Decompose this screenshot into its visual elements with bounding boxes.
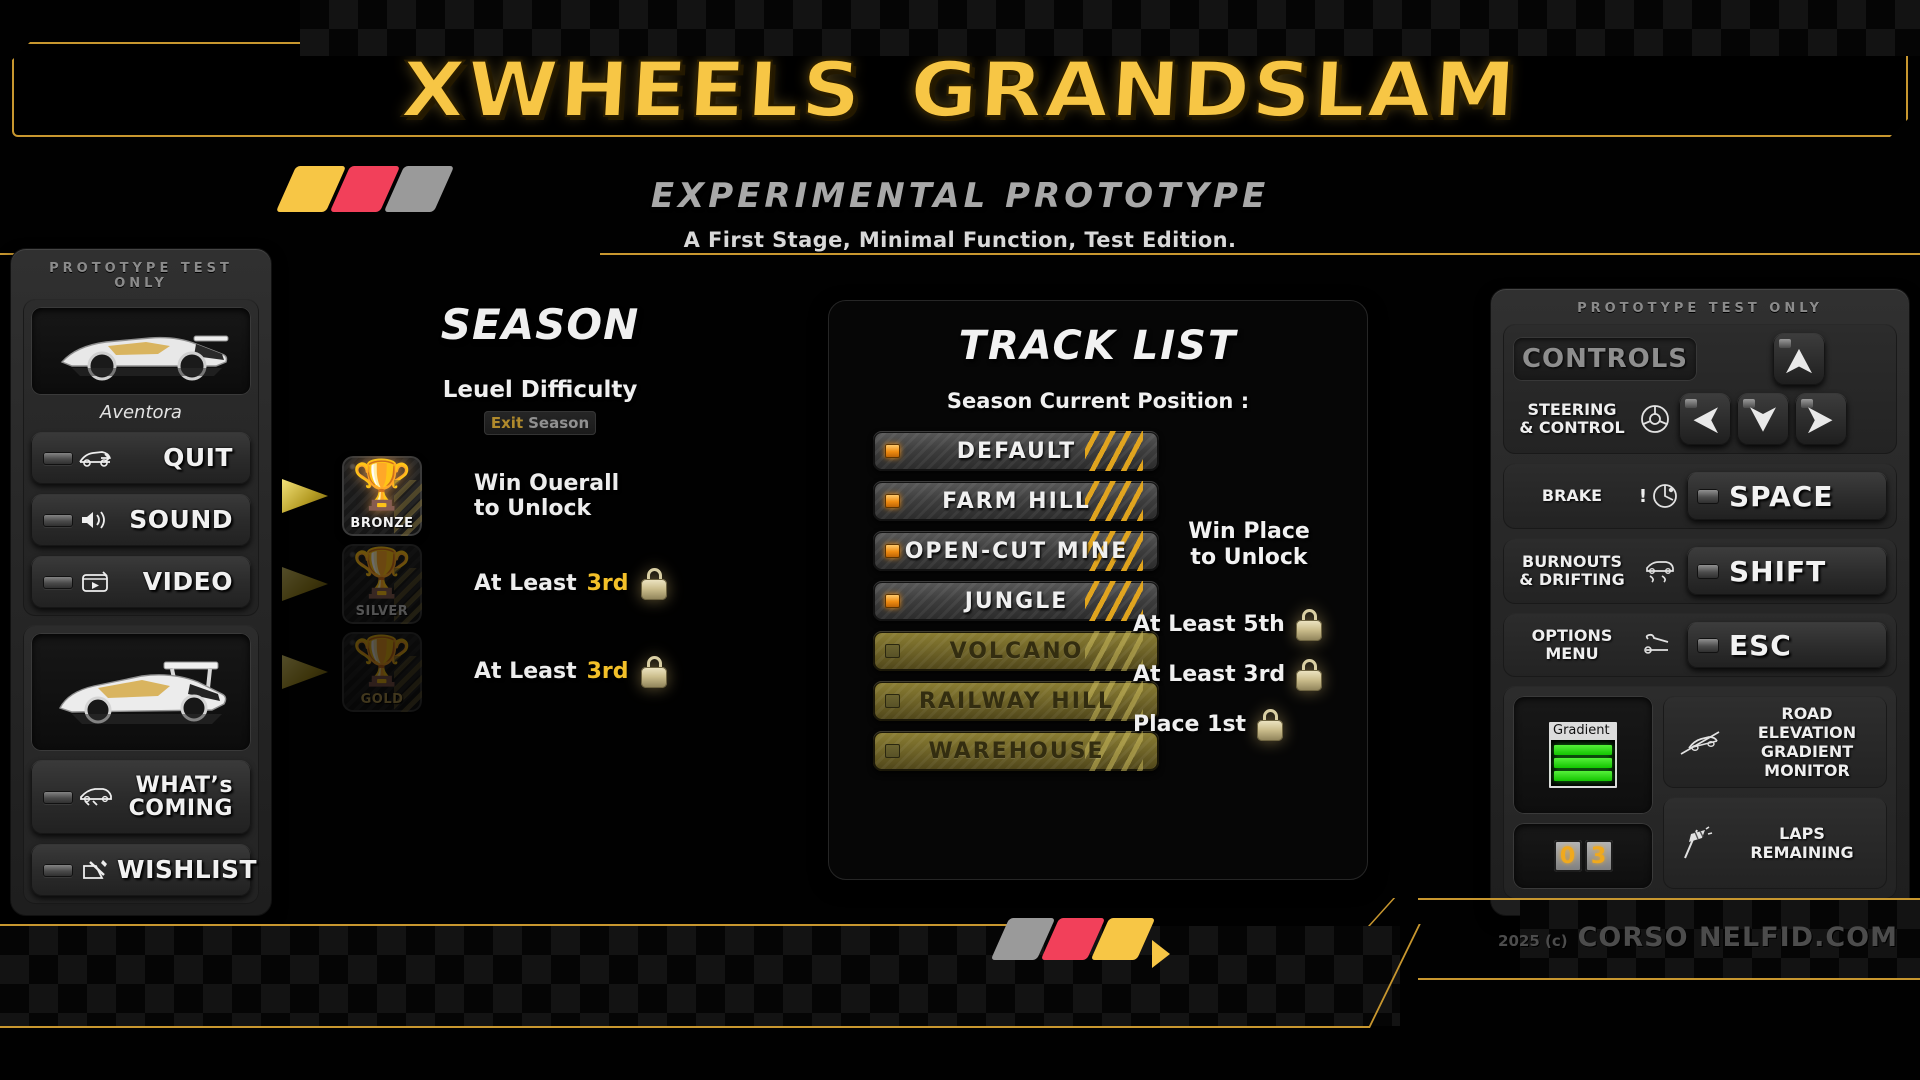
road-slope-icon xyxy=(1675,724,1729,760)
laps-digit-2: 3 xyxy=(1585,840,1613,872)
laps-counter: 0 3 xyxy=(1513,823,1653,889)
tier-arrow-silver-icon[interactable] xyxy=(282,567,328,601)
track-led-icon xyxy=(885,594,900,608)
sub-tagline: A First Stage, Minimal Function, Test Ed… xyxy=(0,228,1920,252)
season-title: SEASON xyxy=(300,300,780,349)
brake-key[interactable]: SPACE xyxy=(1687,472,1887,520)
difficulty-tier-silver[interactable]: 🏆 SILVER At Least 3rd xyxy=(300,540,780,628)
level-difficulty-label: Leuel Difficulty xyxy=(300,377,780,403)
tier-requirement-bronze: Win Ouerall to Unlock xyxy=(422,471,780,522)
arrow-up-icon xyxy=(1786,347,1812,373)
options-key[interactable]: ESC xyxy=(1687,622,1887,668)
tier-req-bronze-line2: to Unlock xyxy=(474,496,591,521)
unlock-req-text: At Least 5th xyxy=(1133,612,1285,637)
subtitle-checker-strip xyxy=(300,0,1920,56)
tier-req-gold-ordinal: 3rd xyxy=(587,659,629,684)
laps-remaining-text: LAPS REMAINING xyxy=(1729,824,1875,862)
tier-req-silver-text: At Least xyxy=(474,571,577,596)
tagline: EXPERIMENTAL PROTOTYPE xyxy=(0,176,1920,216)
brake-bang: ! xyxy=(1639,486,1647,507)
sound-led-icon xyxy=(43,514,73,527)
track-item-railway-hill[interactable]: RAILWAY HILL xyxy=(873,681,1159,721)
bottom-border-bottom xyxy=(0,1026,1370,1028)
burnouts-key[interactable]: SHIFT xyxy=(1687,547,1887,595)
arrow-key-led-icon xyxy=(1685,399,1697,408)
gradient-monitor-desc: ROAD ELEVATION GRADIENT MONITOR xyxy=(1663,696,1887,788)
track-unlock-requirements: Win Place to Unlock At Least 5th At Leas… xyxy=(1129,519,1369,750)
unlock-req-railway-hill: At Least 3rd xyxy=(1129,650,1369,700)
options-menu-label: OPTIONS MENU xyxy=(1513,627,1631,664)
gradient-bar xyxy=(1554,758,1612,768)
arrow-key-down[interactable] xyxy=(1737,393,1789,445)
quit-button-label: QUIT xyxy=(117,445,239,471)
bottom-right-border-top xyxy=(1418,898,1920,900)
video-button[interactable]: VIDEO xyxy=(31,556,251,608)
season-current-position-label: Season Current Position : xyxy=(829,389,1367,413)
controls-proto-label: PROTOTYPE TEST ONLY xyxy=(1503,301,1897,316)
arrow-right-icon xyxy=(1808,407,1834,433)
quit-button[interactable]: QUIT xyxy=(31,432,251,484)
car-future-icon xyxy=(73,784,117,810)
arrow-key-left[interactable] xyxy=(1679,393,1731,445)
trophy-icon-silver: 🏆 xyxy=(342,548,422,600)
steering-line-1: STEERING xyxy=(1527,400,1616,419)
arrow-key-led-icon xyxy=(1801,399,1813,408)
bottom-checker-strip xyxy=(0,926,1400,1026)
track-led-icon xyxy=(885,544,900,558)
sound-button-label: SOUND xyxy=(117,507,239,533)
difficulty-tier-bronze[interactable]: 🏆 BRONZE Win Ouerall to Unlock xyxy=(300,452,780,540)
steering-label: STEERING & CONTROL xyxy=(1513,401,1631,438)
racing-stripes-bottom xyxy=(1000,918,1180,960)
whats-coming-button[interactable]: WHAT’s COMING xyxy=(31,760,251,834)
wishlist-button-label: WISHLIST xyxy=(117,857,263,883)
brake-label: BRAKE xyxy=(1513,487,1631,505)
lock-icon-warehouse xyxy=(1255,709,1285,741)
quit-led-icon xyxy=(43,452,73,465)
video-led-icon xyxy=(43,576,73,589)
unlock-req-text: At Least 3rd xyxy=(1133,662,1285,687)
band-underline-right xyxy=(600,253,1920,255)
track-led-icon xyxy=(885,644,900,658)
track-led-icon xyxy=(885,494,900,508)
track-list-panel: TRACK LIST Season Current Position : DEF… xyxy=(828,300,1368,880)
arrow-key-up[interactable] xyxy=(1773,333,1825,385)
brake-key-label: SPACE xyxy=(1729,480,1849,513)
difficulty-tier-gold[interactable]: 🏆 GOLD At Least 3rd xyxy=(300,628,780,716)
exit-season-label-season: Season xyxy=(528,414,589,432)
track-name: WAREHOUSE xyxy=(900,739,1159,764)
game-menu-screen: XWHEELSGRANDSLAM EXPERIMENTAL PROTOTYPE … xyxy=(0,0,1920,1080)
title-part-2: GRANDSLAM xyxy=(908,45,1520,134)
laps-digits: 0 3 xyxy=(1554,840,1613,872)
tier-requirement-silver: At Least 3rd xyxy=(422,568,780,600)
brake-warning-icon: ! xyxy=(1631,482,1687,510)
key-led-icon xyxy=(1697,489,1719,504)
upcoming-car-preview xyxy=(31,633,251,751)
game-title: XWHEELSGRANDSLAM xyxy=(400,45,1521,134)
lock-icon-volcano xyxy=(1294,609,1324,641)
lock-icon-railway-hill xyxy=(1294,659,1324,691)
trophy-icon-gold: 🏆 xyxy=(342,636,422,688)
concept-car-illustration xyxy=(46,644,236,740)
gradient-desc-line-2: GRADIENT MONITOR xyxy=(1761,742,1853,780)
unlock-req-text: Place 1st xyxy=(1133,712,1246,737)
wishlist-led-icon xyxy=(43,864,73,877)
sidebar-proto-label: PROTOTYPE TEST ONLY xyxy=(23,261,259,291)
tier-req-silver-ordinal: 3rd xyxy=(587,571,629,596)
arrow-key-led-icon xyxy=(1743,399,1755,408)
season-section: SEASON Leuel Difficulty Exit Season 🏆 BR… xyxy=(300,300,780,720)
race-car-illustration xyxy=(46,316,236,386)
tier-arrow-bronze-icon[interactable] xyxy=(282,479,328,513)
unlock-head-line2: to Unlock xyxy=(1190,545,1307,570)
trophy-label-silver: SILVER xyxy=(356,604,409,619)
track-item-farm-hill[interactable]: FARM HILL xyxy=(873,481,1159,521)
options-key-label: ESC xyxy=(1729,629,1808,662)
track-item-open-cut-mine[interactable]: OPEN-CUT MINE xyxy=(873,531,1159,571)
lock-icon-silver xyxy=(639,568,669,600)
wishlist-pen-icon xyxy=(73,858,117,882)
track-item-default[interactable]: DEFAULT xyxy=(873,431,1159,471)
gradient-bar xyxy=(1554,771,1612,781)
car-preview-image xyxy=(31,307,251,395)
trophy-card-bronze[interactable]: 🏆 BRONZE xyxy=(342,456,422,536)
key-led-icon xyxy=(1697,638,1719,653)
gradient-caption: Gradient xyxy=(1551,724,1615,739)
burnouts-line-1: BURNOUTS xyxy=(1522,552,1622,571)
track-name: VOLCANO xyxy=(900,639,1159,664)
video-clapper-icon xyxy=(73,570,117,594)
trophy-card-gold[interactable]: 🏆 GOLD xyxy=(342,632,422,712)
exit-season-button[interactable]: Exit Season xyxy=(484,411,596,435)
laps-digit-1: 0 xyxy=(1554,840,1582,872)
copyright: 2025 (c) CORSO NELFID.COM xyxy=(1498,922,1898,953)
checkered-flag-icon xyxy=(1675,826,1719,860)
arrow-down-icon xyxy=(1750,407,1776,433)
track-name: JUNGLE xyxy=(900,589,1159,614)
unlock-req-volcano: At Least 5th xyxy=(1129,600,1369,650)
bottom-right-border-bottom xyxy=(1418,978,1920,980)
gradient-desc-line-1: ROAD ELEVATION xyxy=(1758,704,1856,742)
copyright-year: 2025 (c) xyxy=(1498,932,1568,950)
track-item-volcano[interactable]: VOLCANO xyxy=(873,631,1159,671)
track-item-warehouse[interactable]: WAREHOUSE xyxy=(873,731,1159,771)
unlock-req-warehouse: Place 1st xyxy=(1129,700,1369,750)
burnouts-label: BURNOUTS & DRIFTING xyxy=(1513,553,1631,590)
track-item-jungle[interactable]: JUNGLE xyxy=(873,581,1159,621)
whats-coming-led-icon xyxy=(43,791,73,804)
trophy-icon-bronze: 🏆 xyxy=(342,460,422,512)
track-led-icon xyxy=(885,744,900,758)
tier-req-gold-text: At Least xyxy=(474,659,577,684)
lock-icon-gold xyxy=(639,656,669,688)
track-name: DEFAULT xyxy=(900,439,1159,464)
video-button-label: VIDEO xyxy=(117,569,239,595)
track-name: FARM HILL xyxy=(900,489,1159,514)
wishlist-button[interactable]: WISHLIST xyxy=(31,844,251,896)
arrow-left-icon xyxy=(1692,407,1718,433)
tier-req-bronze-line1: Win Ouerall xyxy=(474,471,619,496)
trophy-label-gold: GOLD xyxy=(361,692,404,707)
controls-panel: PROTOTYPE TEST ONLY CONTROLS STEERING & … xyxy=(1490,288,1910,916)
trophy-label-bronze: BRONZE xyxy=(350,516,413,531)
gradient-gauge: Gradient xyxy=(1513,696,1653,814)
arrow-key-led-icon xyxy=(1779,339,1791,348)
track-led-icon xyxy=(885,694,900,708)
car-name-label: Aventora xyxy=(31,402,251,423)
trophy-card-silver[interactable]: 🏆 SILVER xyxy=(342,544,422,624)
burnouts-line-2: & DRIFTING xyxy=(1519,570,1624,589)
unlock-head: Win Place to Unlock xyxy=(1129,519,1369,572)
track-name: OPEN-CUT MINE xyxy=(900,539,1159,564)
laps-remaining-desc: LAPS REMAINING xyxy=(1663,797,1887,889)
gradient-bars xyxy=(1551,740,1615,786)
car-side-icon xyxy=(73,448,117,468)
left-sidebar-panel: PROTOTYPE TEST ONLY Aventora xyxy=(10,248,272,916)
bottom-border-top xyxy=(0,924,1016,926)
whats-coming-button-label: WHAT’s COMING xyxy=(117,774,239,820)
controls-header-label: CONTROLS xyxy=(1522,344,1688,374)
key-led-icon xyxy=(1697,564,1719,579)
exit-season-label-exit: Exit xyxy=(491,414,523,432)
gradient-widget: Gradient xyxy=(1549,722,1617,787)
unlock-head-line1: Win Place xyxy=(1188,519,1310,544)
sound-button[interactable]: SOUND xyxy=(31,494,251,546)
gradient-monitor-text: ROAD ELEVATION GRADIENT MONITOR xyxy=(1739,704,1875,781)
drift-car-icon xyxy=(1631,557,1687,585)
tier-requirement-gold: At Least 3rd xyxy=(422,656,780,688)
burnouts-key-label: SHIFT xyxy=(1729,555,1842,588)
arrow-key-right[interactable] xyxy=(1795,393,1847,445)
copyright-brand: CORSO NELFID.COM xyxy=(1578,922,1898,953)
bottom-diagonal-accent-2 xyxy=(1368,898,1395,926)
title-part-1: XWHEELS xyxy=(400,45,866,134)
gradient-bar xyxy=(1554,745,1612,755)
tier-arrow-gold-icon[interactable] xyxy=(282,655,328,689)
speaker-icon xyxy=(73,509,117,531)
track-led-icon xyxy=(885,444,900,458)
steering-line-2: & CONTROL xyxy=(1519,418,1624,437)
tools-icon xyxy=(1631,633,1687,657)
game-title-banner: XWHEELSGRANDSLAM xyxy=(12,42,1908,137)
controls-header-button[interactable]: CONTROLS xyxy=(1513,337,1697,381)
track-list-title: TRACK LIST xyxy=(829,323,1367,369)
track-name: RAILWAY HILL xyxy=(900,689,1159,714)
steering-wheel-icon xyxy=(1631,404,1679,434)
